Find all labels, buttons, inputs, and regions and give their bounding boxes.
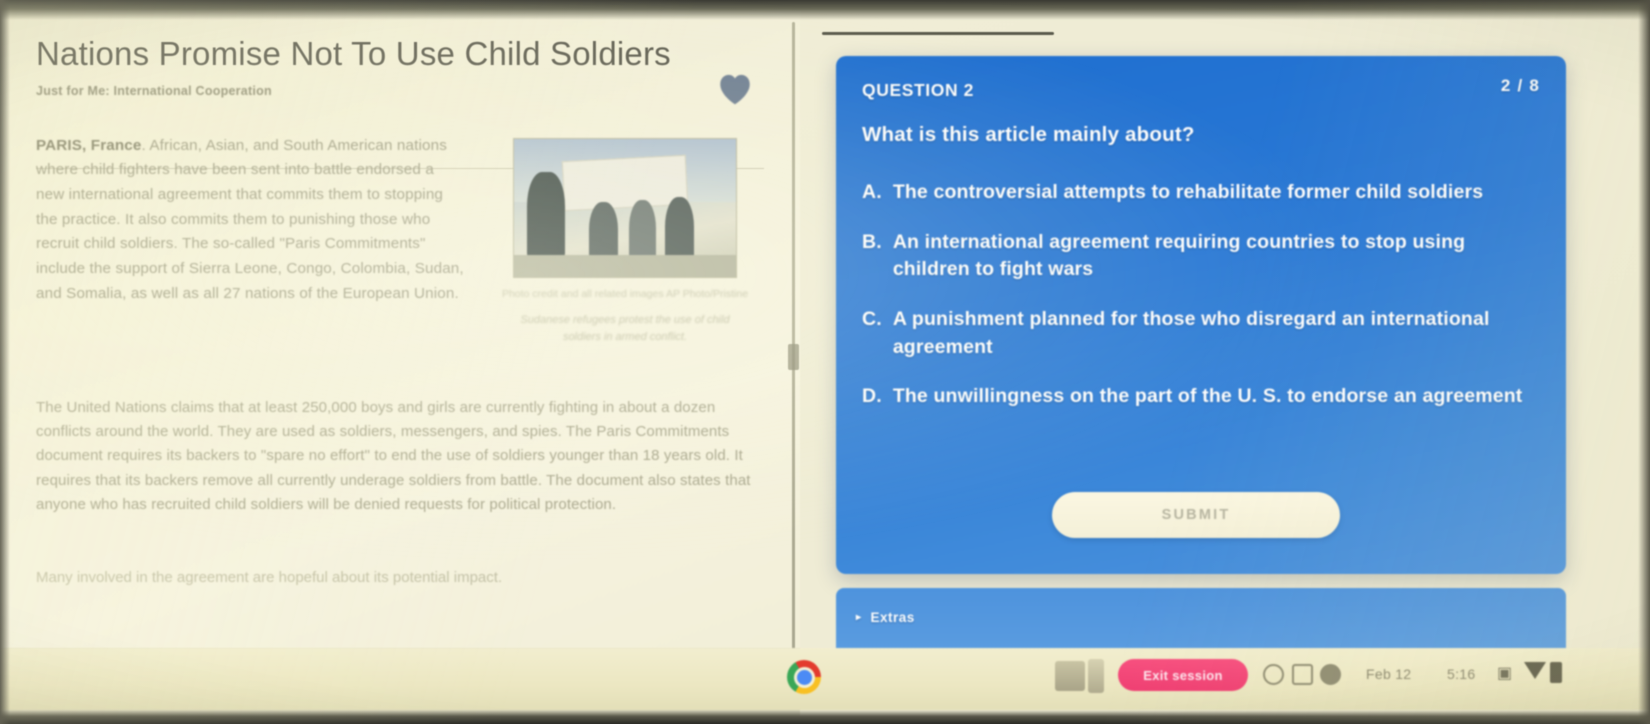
figure-person [527,172,565,258]
screen-bezel-left [0,0,10,724]
choice-letter: A. [862,179,882,207]
screen-bezel-top [0,0,1650,20]
answer-choice-a[interactable]: A. The controversial attempts to rehabil… [862,179,1540,207]
app-icon[interactable] [1055,661,1085,691]
choice-letter: C. [862,306,882,361]
article-paragraph-1: PARIS, France. African, Asian, and South… [36,134,466,306]
question-text: What is this article mainly about? [862,123,1540,147]
screen-bezel-bottom [0,710,1650,724]
exit-session-button[interactable]: Exit session [1118,659,1248,691]
article-paragraph-3: Many involved in the agreement are hopef… [36,566,726,590]
figure-ground [514,255,736,277]
figure-caption: Sudanese refugees protest the use of chi… [500,312,750,345]
article-figure: Photo credit and all related images AP P… [500,138,750,345]
article-pane: Nations Promise Not To Use Child Soldier… [0,8,800,648]
status-filled-circle-icon[interactable] [1320,664,1341,685]
status-square-icon[interactable] [1292,664,1313,685]
extras-toggle[interactable]: ▸ Extras [856,610,915,625]
question-label: QUESTION 2 [862,80,1540,101]
screen-bezel-right [1638,0,1650,724]
question-counter: 2 / 8 [1501,76,1540,96]
answer-choices: A. The controversial attempts to rehabil… [862,179,1540,411]
wifi-icon[interactable] [1524,662,1546,679]
chromeos-shelf: Exit session Feb 12 5:16 ▣ [0,648,1650,710]
choice-text: An international agreement requiring cou… [893,229,1530,284]
chevron-right-icon: ▸ [856,612,862,623]
shelf-date: Feb 12 [1366,666,1411,682]
answer-choice-d[interactable]: D. The unwillingness on the part of the … [862,383,1540,411]
figure-image [513,138,737,278]
figure-person [665,197,694,263]
article-body: PARIS, France. African, Asian, and South… [36,134,760,306]
choice-letter: B. [862,229,882,284]
answer-choice-b[interactable]: B. An international agreement requiring … [862,229,1540,284]
status-circle-icon[interactable] [1263,664,1284,685]
choice-letter: D. [862,383,882,411]
quiz-top-divider [822,32,1054,35]
page-title: Nations Promise Not To Use Child Soldier… [36,30,676,78]
figure-credit: Photo credit and all related images AP P… [500,287,750,302]
quiz-pane: QUESTION 2 2 / 8 What is this article ma… [800,0,1650,724]
choice-text: The controversial attempts to rehabilita… [893,179,1530,207]
answer-choice-c[interactable]: C. A punishment planned for those who di… [862,306,1540,361]
article-dateline: PARIS, France [36,137,141,154]
network-icon[interactable]: ▣ [1497,663,1512,683]
article-subtitle: Just for Me: International Cooperation [36,84,760,98]
extras-bar[interactable]: ▸ Extras [836,588,1566,650]
article-paragraph-1-text: . African, Asian, and South American nat… [36,137,464,302]
scrollbar-thumb[interactable] [788,344,799,370]
scrollbar-track [792,22,795,652]
chrome-icon[interactable] [787,660,821,694]
pane-scrollbar[interactable] [788,22,798,652]
screen-photo: Nations Promise Not To Use Child Soldier… [0,0,1650,724]
question-card: QUESTION 2 2 / 8 What is this article ma… [836,56,1566,574]
article-paragraph-2: The United Nations claims that at least … [36,396,761,517]
submit-button[interactable]: SUBMIT [1052,492,1340,538]
heart-icon[interactable] [715,70,755,106]
battery-icon[interactable] [1550,662,1562,683]
choice-text: The unwillingness on the part of the U. … [893,383,1530,411]
choice-text: A punishment planned for those who disre… [893,306,1530,361]
figure-person [629,200,656,263]
app-icon[interactable] [1088,659,1104,693]
shelf-time[interactable]: 5:16 [1447,666,1475,682]
extras-label: Extras [871,610,915,625]
